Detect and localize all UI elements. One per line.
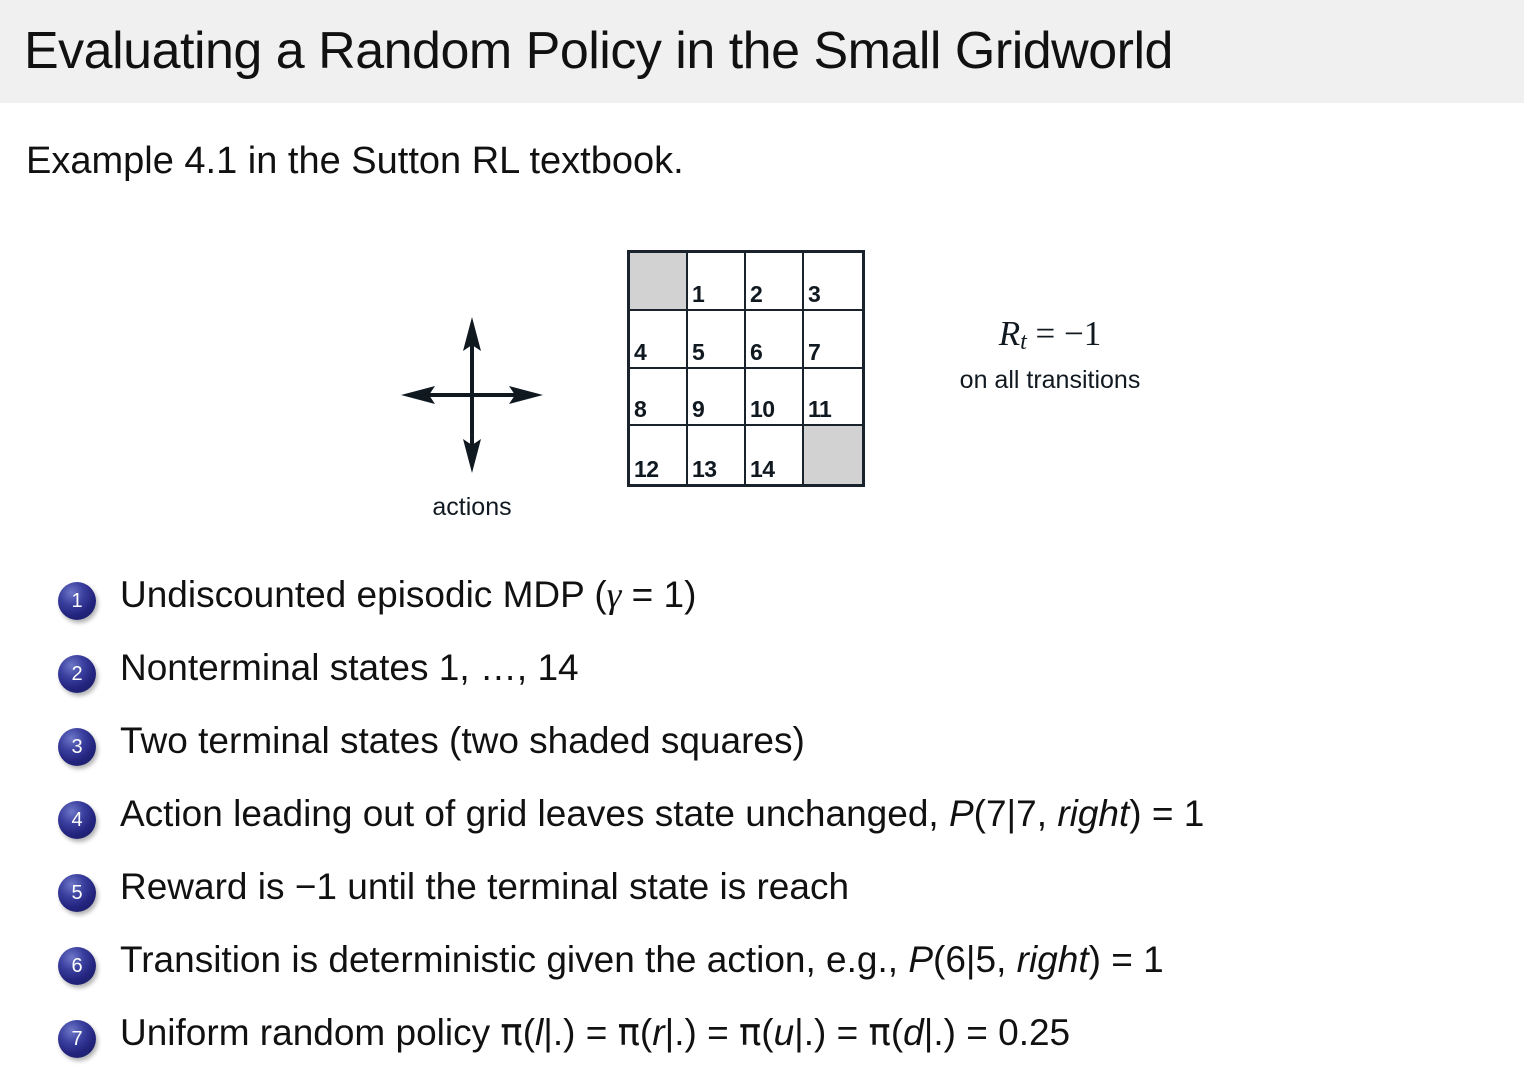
grid-cell-label: 3 [808, 282, 820, 307]
bullet-marker-7: 7 [58, 1020, 96, 1058]
list-item-text: Two terminal states (two shaded squares) [120, 714, 1524, 768]
list-item-text: Action leading out of grid leaves state … [120, 787, 1524, 841]
list-item: 7 Uniform random policy π(l|.) = π(r|.) … [0, 1006, 1524, 1079]
list-item-text: Transition is deterministic given the ac… [120, 933, 1524, 987]
reward-annotation: Rt = −1 on all transitions [905, 312, 1195, 396]
grid-cell-label: 8 [634, 397, 646, 422]
list-item-text: Uniform random policy π(l|.) = π(r|.) = … [120, 1006, 1524, 1060]
reward-formula: Rt = −1 [905, 312, 1195, 364]
grid-cell-11: 11 [804, 369, 862, 427]
gridworld-figure: actions 1 2 3 4 5 6 7 8 9 10 11 12 13 14… [0, 230, 1524, 520]
grid-cell-12: 12 [630, 426, 688, 484]
grid-cell-6: 6 [746, 311, 804, 369]
grid-cell-label: 2 [750, 282, 762, 307]
grid-cell-10: 10 [746, 369, 804, 427]
four-way-arrow-cross-icon [392, 305, 552, 485]
subtitle-text: Example 4.1 in the Sutton RL textbook. [26, 136, 684, 186]
list-item-text: Nonterminal states 1, …, 14 [120, 641, 1524, 695]
actions-diagram: actions [392, 305, 552, 485]
grid-cell-14: 14 [746, 426, 804, 484]
bullet-marker-6: 6 [58, 947, 96, 985]
grid-cell-label: 4 [634, 340, 646, 365]
gridworld-grid: 1 2 3 4 5 6 7 8 9 10 11 12 13 14 [627, 250, 865, 487]
list-item: 2 Nonterminal states 1, …, 14 [0, 641, 1524, 714]
grid-cell-terminal-start [630, 253, 688, 311]
grid-cell-terminal-end [804, 426, 862, 484]
grid-cell-label: 6 [750, 340, 762, 365]
grid-cell-label: 12 [634, 457, 659, 482]
list-item: 6 Transition is deterministic given the … [0, 933, 1524, 1006]
reward-symbol: R [999, 314, 1020, 353]
grid-cell-label: 10 [750, 397, 775, 422]
list-item: 5 Reward is −1 until the terminal state … [0, 860, 1524, 933]
grid-cell-4: 4 [630, 311, 688, 369]
grid-cell-label: 1 [692, 282, 704, 307]
grid-cell-5: 5 [688, 311, 746, 369]
grid-cell-7: 7 [804, 311, 862, 369]
grid-cell-1: 1 [688, 253, 746, 311]
bullet-marker-2: 2 [58, 655, 96, 693]
list-item: 3 Two terminal states (two shaded square… [0, 714, 1524, 787]
list-item: 1 Undiscounted episodic MDP (γ = 1) [0, 568, 1524, 641]
grid-cell-label: 5 [692, 340, 704, 365]
grid-cell-2: 2 [746, 253, 804, 311]
bullet-marker-4: 4 [58, 801, 96, 839]
reward-subscript: t [1020, 329, 1027, 355]
actions-label: actions [392, 493, 552, 522]
grid-cell-label: 14 [750, 457, 775, 482]
grid-cell-3: 3 [804, 253, 862, 311]
title-band: Evaluating a Random Policy in the Small … [0, 0, 1524, 103]
grid-cell-8: 8 [630, 369, 688, 427]
grid-cell-13: 13 [688, 426, 746, 484]
reward-caption: on all transitions [905, 364, 1195, 396]
grid-cell-label: 7 [808, 340, 820, 365]
list-item-text: Reward is −1 until the terminal state is… [120, 860, 1524, 914]
page-title: Evaluating a Random Policy in the Small … [24, 18, 1173, 84]
bullet-marker-1: 1 [58, 582, 96, 620]
list-item: 4 Action leading out of grid leaves stat… [0, 787, 1524, 860]
grid-cell-label: 9 [692, 397, 704, 422]
grid-cell-label: 13 [692, 457, 717, 482]
list-item-text: Undiscounted episodic MDP (γ = 1) [120, 568, 1524, 623]
bullet-list: 1 Undiscounted episodic MDP (γ = 1) 2 No… [0, 568, 1524, 1079]
grid-cell-9: 9 [688, 369, 746, 427]
bullet-marker-3: 3 [58, 728, 96, 766]
reward-value: = −1 [1027, 314, 1101, 353]
grid-cell-label: 11 [808, 397, 831, 422]
bullet-marker-5: 5 [58, 874, 96, 912]
